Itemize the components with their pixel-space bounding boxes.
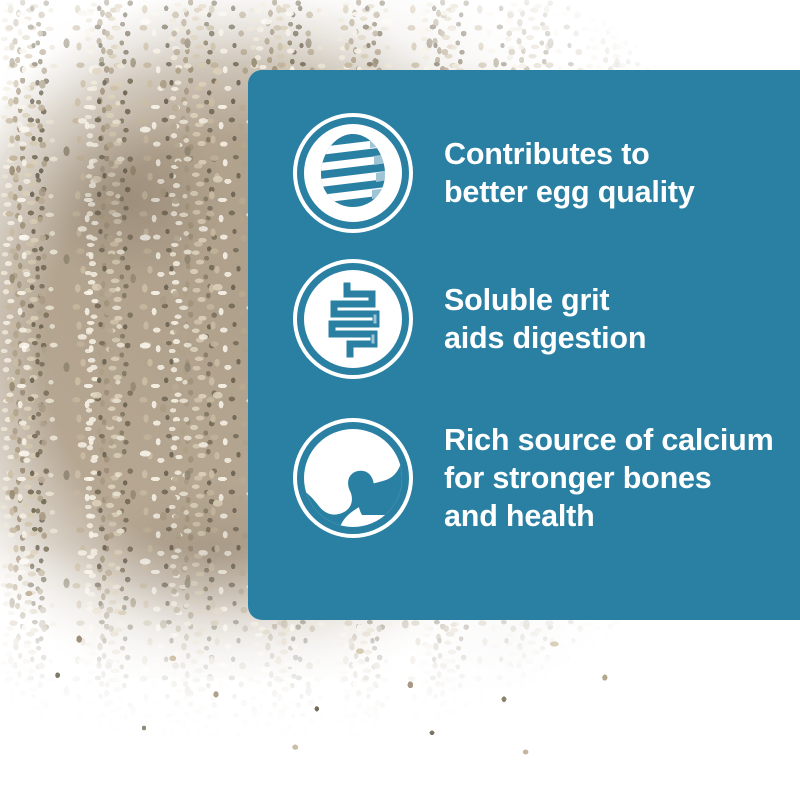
benefit-list: Contributes to better egg quality Solubl… [248,70,800,620]
bone-joint-icon [292,417,414,539]
egg-icon [292,112,414,234]
product-benefits-graphic: Contributes to better egg quality Solubl… [0,0,800,800]
benefits-panel: Contributes to better egg quality Solubl… [248,70,800,620]
benefit-item-digestion: Soluble grit aids digestion [292,258,782,380]
benefit-label-digestion: Soluble grit aids digestion [444,281,646,357]
benefit-item-egg-quality: Contributes to better egg quality [292,112,782,234]
benefit-item-calcium: Rich source of calcium for stronger bone… [292,417,782,539]
intestine-icon [292,258,414,380]
benefit-label-egg-quality: Contributes to better egg quality [444,135,695,211]
benefit-label-calcium: Rich source of calcium for stronger bone… [444,421,774,535]
